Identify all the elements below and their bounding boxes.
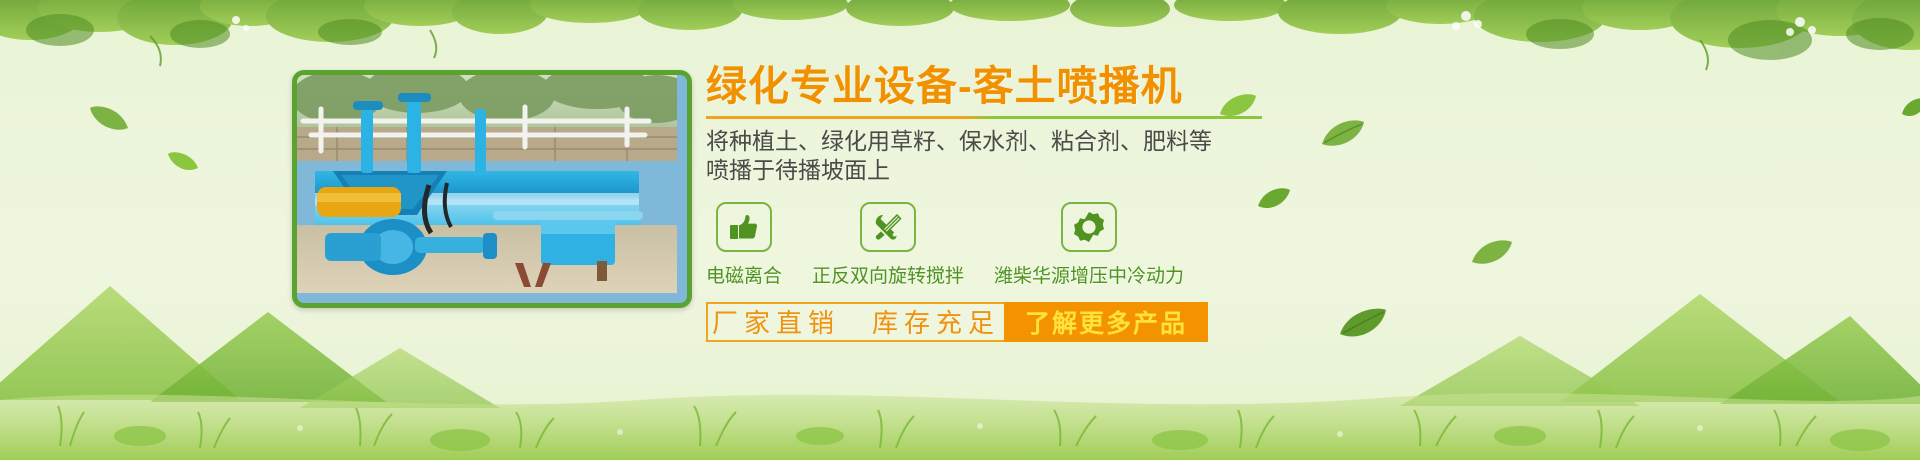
learn-more-button[interactable]: 了解更多产品 (1004, 302, 1208, 342)
subtitle-line-2: 喷播于待播坡面上 (706, 156, 1326, 185)
wrench-screwdriver-icon (860, 202, 916, 252)
gear-icon (1061, 202, 1117, 252)
leaf-decoration (166, 150, 200, 177)
page-title: 绿化专业设备-客土喷播机 (706, 64, 1326, 110)
feature-label: 正反双向旋转搅拌 (812, 261, 964, 288)
cta-slogan: 厂家直销 库存充足 (706, 302, 1004, 342)
cta-row: 厂家直销 库存充足 了解更多产品 (706, 302, 1208, 342)
leaf-decoration (1900, 96, 1920, 123)
banner-content: 绿化专业设备-客土喷播机 将种植土、绿化用草籽、保水剂、粘合剂、肥料等 喷播于待… (706, 64, 1326, 342)
feature-list: 电磁离合 正反双向旋 (706, 202, 1326, 288)
product-photo (292, 70, 692, 308)
feature-label: 电磁离合 (706, 261, 782, 288)
leaf-decoration (1338, 306, 1388, 343)
leaf-decoration (88, 104, 130, 137)
promo-banner: 绿化专业设备-客土喷播机 将种植土、绿化用草籽、保水剂、粘合剂、肥料等 喷播于待… (0, 0, 1920, 460)
leaf-decoration (1320, 118, 1366, 153)
subtitle-line-1: 将种植土、绿化用草籽、保水剂、粘合剂、肥料等 (706, 127, 1326, 156)
title-divider (706, 116, 1262, 119)
thumbs-up-icon (716, 202, 772, 252)
feature-label: 潍柴华源增压中冷动力 (994, 261, 1184, 288)
feature-item-electromagnetic-clutch: 电磁离合 (706, 202, 782, 288)
feature-item-turbo-power: 潍柴华源增压中冷动力 (994, 202, 1184, 288)
leaf-decoration (1470, 238, 1514, 271)
feature-item-bidirectional-mixing: 正反双向旋转搅拌 (812, 202, 964, 288)
